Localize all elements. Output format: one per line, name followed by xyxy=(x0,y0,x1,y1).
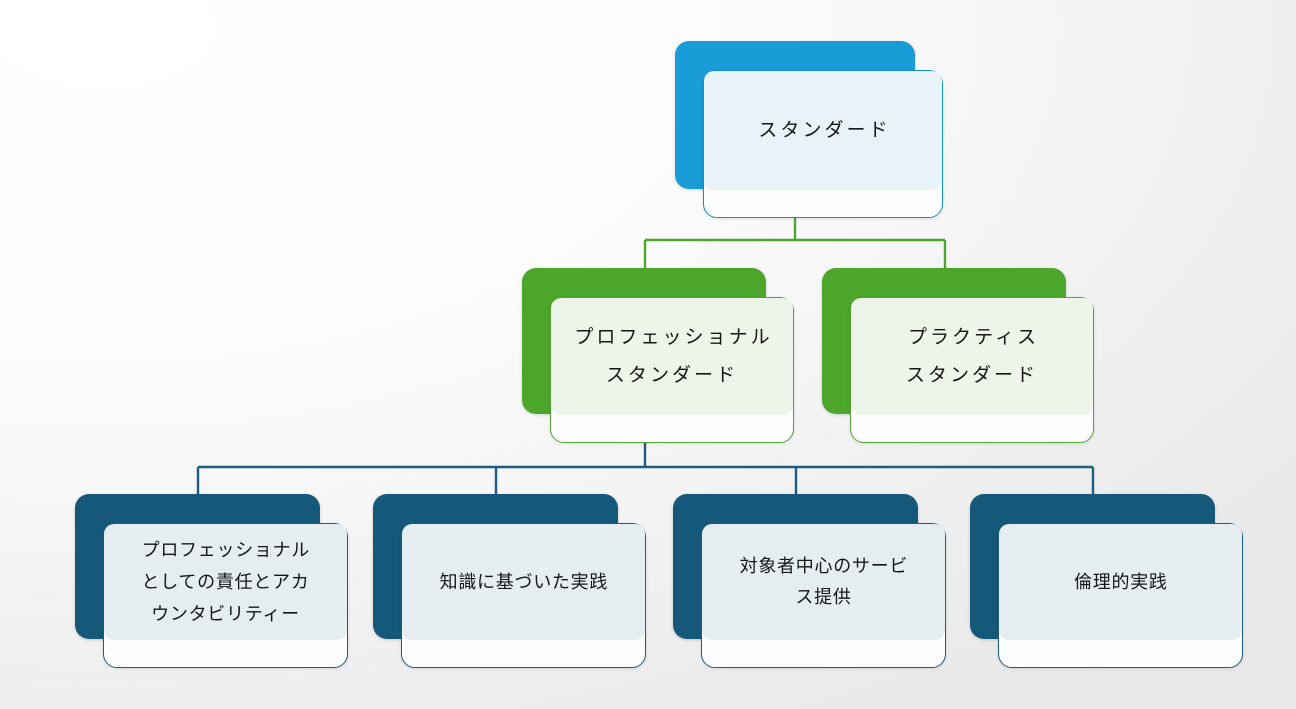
node-responsibility-accountability-card: プロフェッショナル としての責任とアカ ウンタビリティー xyxy=(103,523,348,668)
node-person-centred-service[interactable]: 対象者中心のサービ ス提供 xyxy=(673,494,946,668)
edge-level2-to-level3 xyxy=(198,442,1093,494)
node-responsibility-accountability-label: プロフェッショナル としての責任とアカ ウンタビリティー xyxy=(133,534,318,630)
node-professional-standard-fill: プロフェッショナル スタンダード xyxy=(551,298,793,415)
node-knowledge-based-practice-label: 知識に基づいた実践 xyxy=(431,567,616,598)
node-person-centred-service-card: 対象者中心のサービ ス提供 xyxy=(701,523,946,668)
node-knowledge-based-practice-fill: 知識に基づいた実践 xyxy=(402,524,645,640)
node-practice-standard[interactable]: プラクティス スタンダード xyxy=(822,268,1094,443)
node-standard-label: スタンダード xyxy=(747,112,898,149)
node-responsibility-accountability-fill: プロフェッショナル としての責任とアカ ウンタビリティー xyxy=(104,524,347,640)
node-professional-standard-label: プロフェッショナル スタンダード xyxy=(563,319,780,393)
node-practice-standard-card: プラクティス スタンダード xyxy=(850,297,1094,443)
node-practice-standard-label: プラクティス スタンダード xyxy=(897,319,1047,393)
node-ethical-practice[interactable]: 倫理的実践 xyxy=(970,494,1243,668)
node-knowledge-based-practice[interactable]: 知識に基づいた実践 xyxy=(373,494,646,668)
diagram-canvas: スタンダード プロフェッショナル スタンダード プラクティス スタンダード プロ… xyxy=(0,0,1296,709)
node-ethical-practice-fill: 倫理的実践 xyxy=(999,524,1242,640)
node-ethical-practice-label: 倫理的実践 xyxy=(1065,567,1175,598)
node-person-centred-service-fill: 対象者中心のサービ ス提供 xyxy=(702,524,945,640)
node-practice-standard-fill: プラクティス スタンダード xyxy=(851,298,1093,415)
node-standard[interactable]: スタンダード xyxy=(675,41,943,218)
node-professional-standard[interactable]: プロフェッショナル スタンダード xyxy=(522,268,794,443)
edge-root-to-level2 xyxy=(645,216,945,268)
node-person-centred-service-label: 対象者中心のサービ ス提供 xyxy=(731,551,916,613)
node-ethical-practice-card: 倫理的実践 xyxy=(998,523,1243,668)
node-responsibility-accountability[interactable]: プロフェッショナル としての責任とアカ ウンタビリティー xyxy=(75,494,348,668)
node-professional-standard-card: プロフェッショナル スタンダード xyxy=(550,297,794,443)
node-standard-card: スタンダード xyxy=(703,70,943,218)
node-knowledge-based-practice-card: 知識に基づいた実践 xyxy=(401,523,646,668)
node-standard-fill: スタンダード xyxy=(704,71,942,190)
